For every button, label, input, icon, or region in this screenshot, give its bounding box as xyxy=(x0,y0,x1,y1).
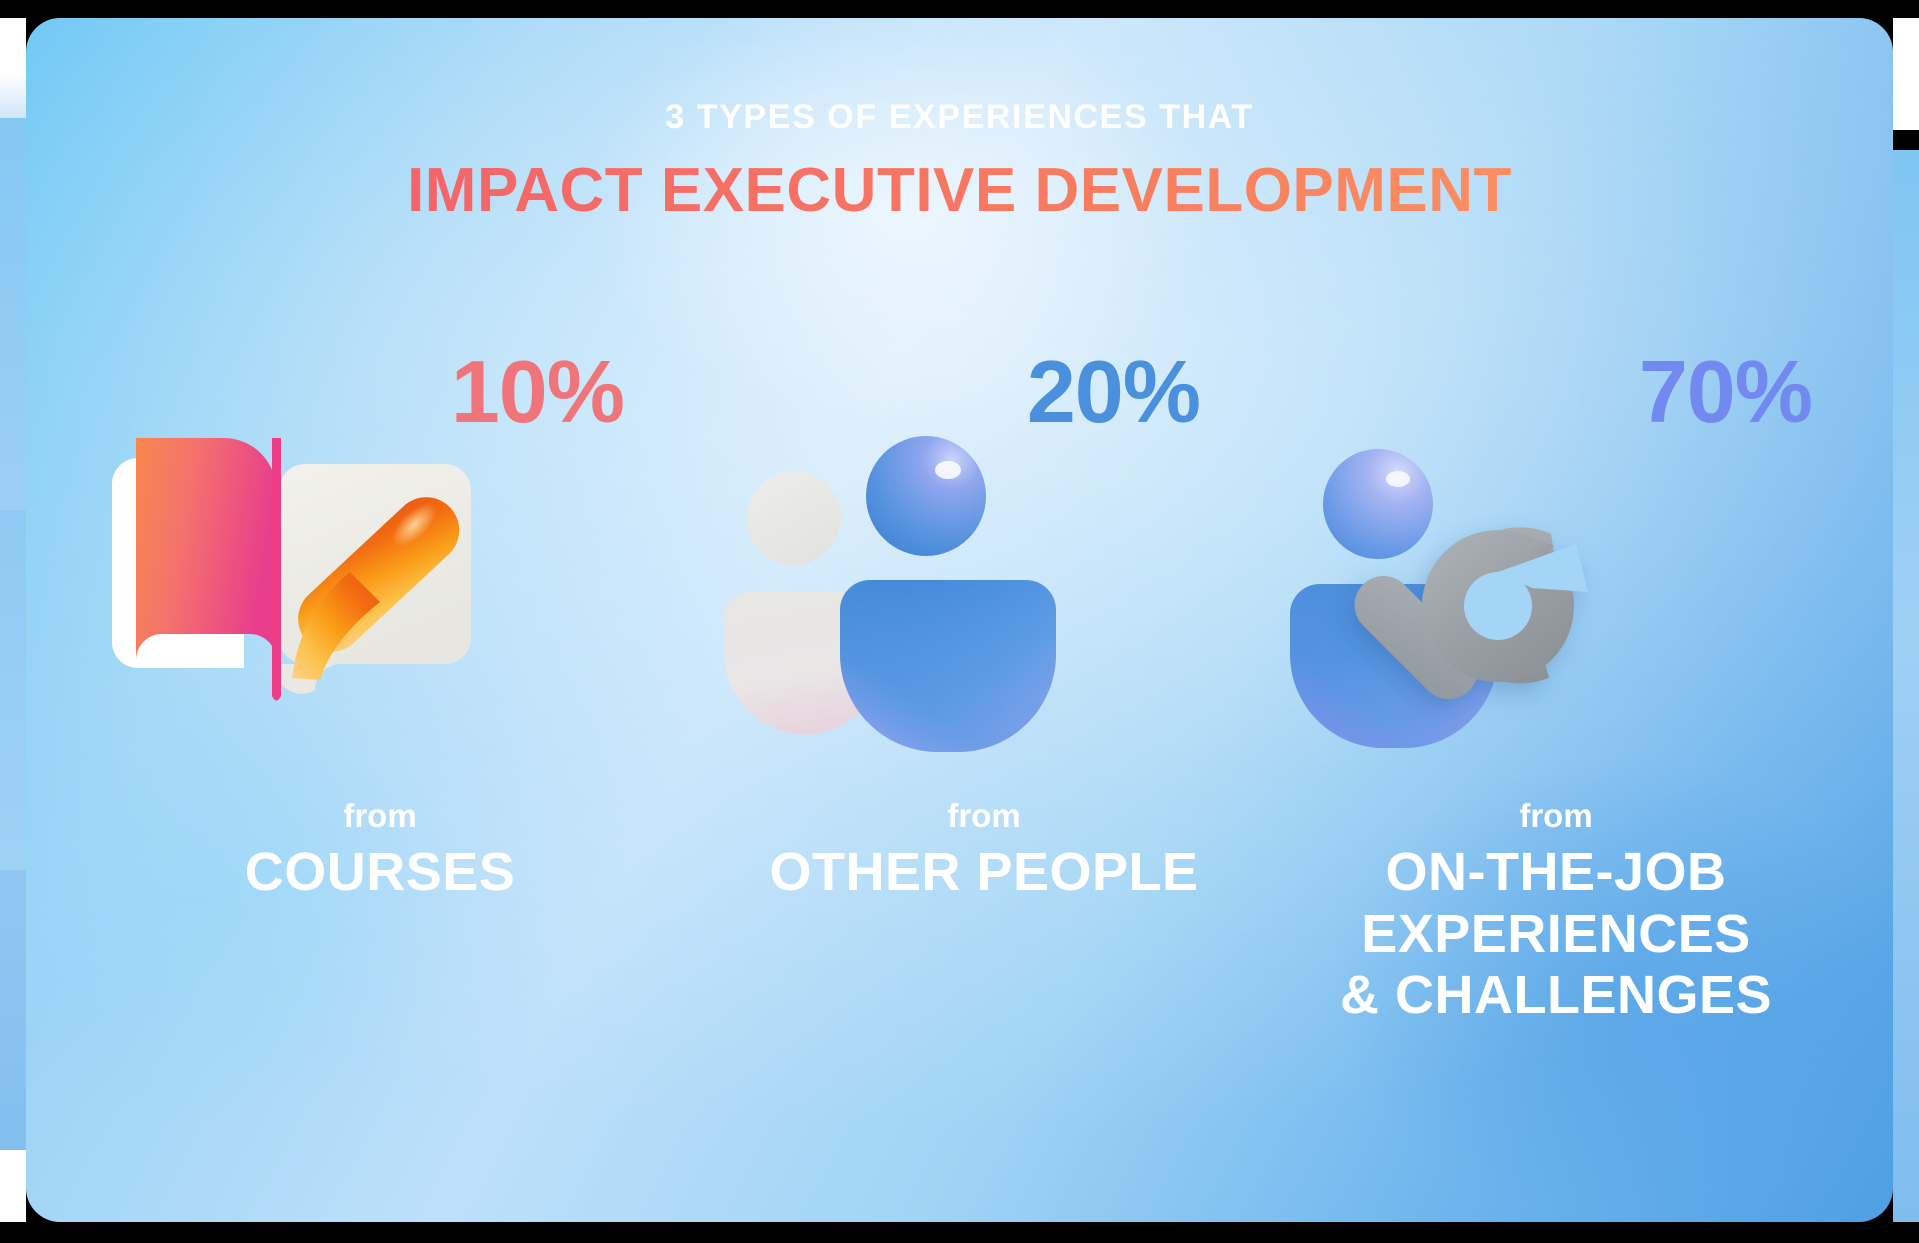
right-edge-band xyxy=(1893,150,1919,1222)
person-with-wrench-icon xyxy=(1276,446,1836,746)
two-people-icon xyxy=(716,446,1252,746)
left-edge-band-lower xyxy=(0,510,26,870)
column-courses: 10% xyxy=(112,348,648,904)
column-other-people: 20% xyxy=(716,348,1252,904)
labels-on-the-job: from ON-THE-JOB EXPERIENCES & CHALLENGES xyxy=(1276,798,1836,1027)
source-label-courses: COURSES xyxy=(112,842,648,904)
infographic-card: 3 TYPES OF EXPERIENCES THAT IMPACT EXECU… xyxy=(26,18,1893,1222)
percent-on-the-job: 70% xyxy=(1276,348,1836,436)
top-right-sliver xyxy=(1893,18,1919,130)
top-left-sliver xyxy=(0,18,26,118)
from-label-on-the-job: from xyxy=(1276,798,1836,834)
labels-courses: from COURSES xyxy=(112,798,648,904)
from-label-courses: from xyxy=(112,798,648,834)
percent-courses: 10% xyxy=(112,348,648,436)
bottom-left-sliver xyxy=(0,1150,26,1222)
source-line: COURSES xyxy=(112,842,648,904)
source-label-on-the-job: ON-THE-JOB EXPERIENCES & CHALLENGES xyxy=(1276,842,1836,1027)
labels-other-people: from OTHER PEOPLE xyxy=(716,798,1252,904)
source-line: ON-THE-JOB xyxy=(1276,842,1836,904)
source-line: EXPERIENCES xyxy=(1276,904,1836,966)
from-label-other-people: from xyxy=(716,798,1252,834)
columns-container: 10% xyxy=(26,18,1893,1222)
infographic-canvas: 3 TYPES OF EXPERIENCES THAT IMPACT EXECU… xyxy=(0,0,1919,1243)
column-on-the-job: 70% xyxy=(1276,348,1836,1027)
open-book-with-pen-icon xyxy=(112,446,648,746)
percent-other-people: 20% xyxy=(716,348,1252,436)
source-line: & CHALLENGES xyxy=(1276,965,1836,1027)
source-label-other-people: OTHER PEOPLE xyxy=(716,842,1252,904)
source-line: OTHER PEOPLE xyxy=(716,842,1252,904)
